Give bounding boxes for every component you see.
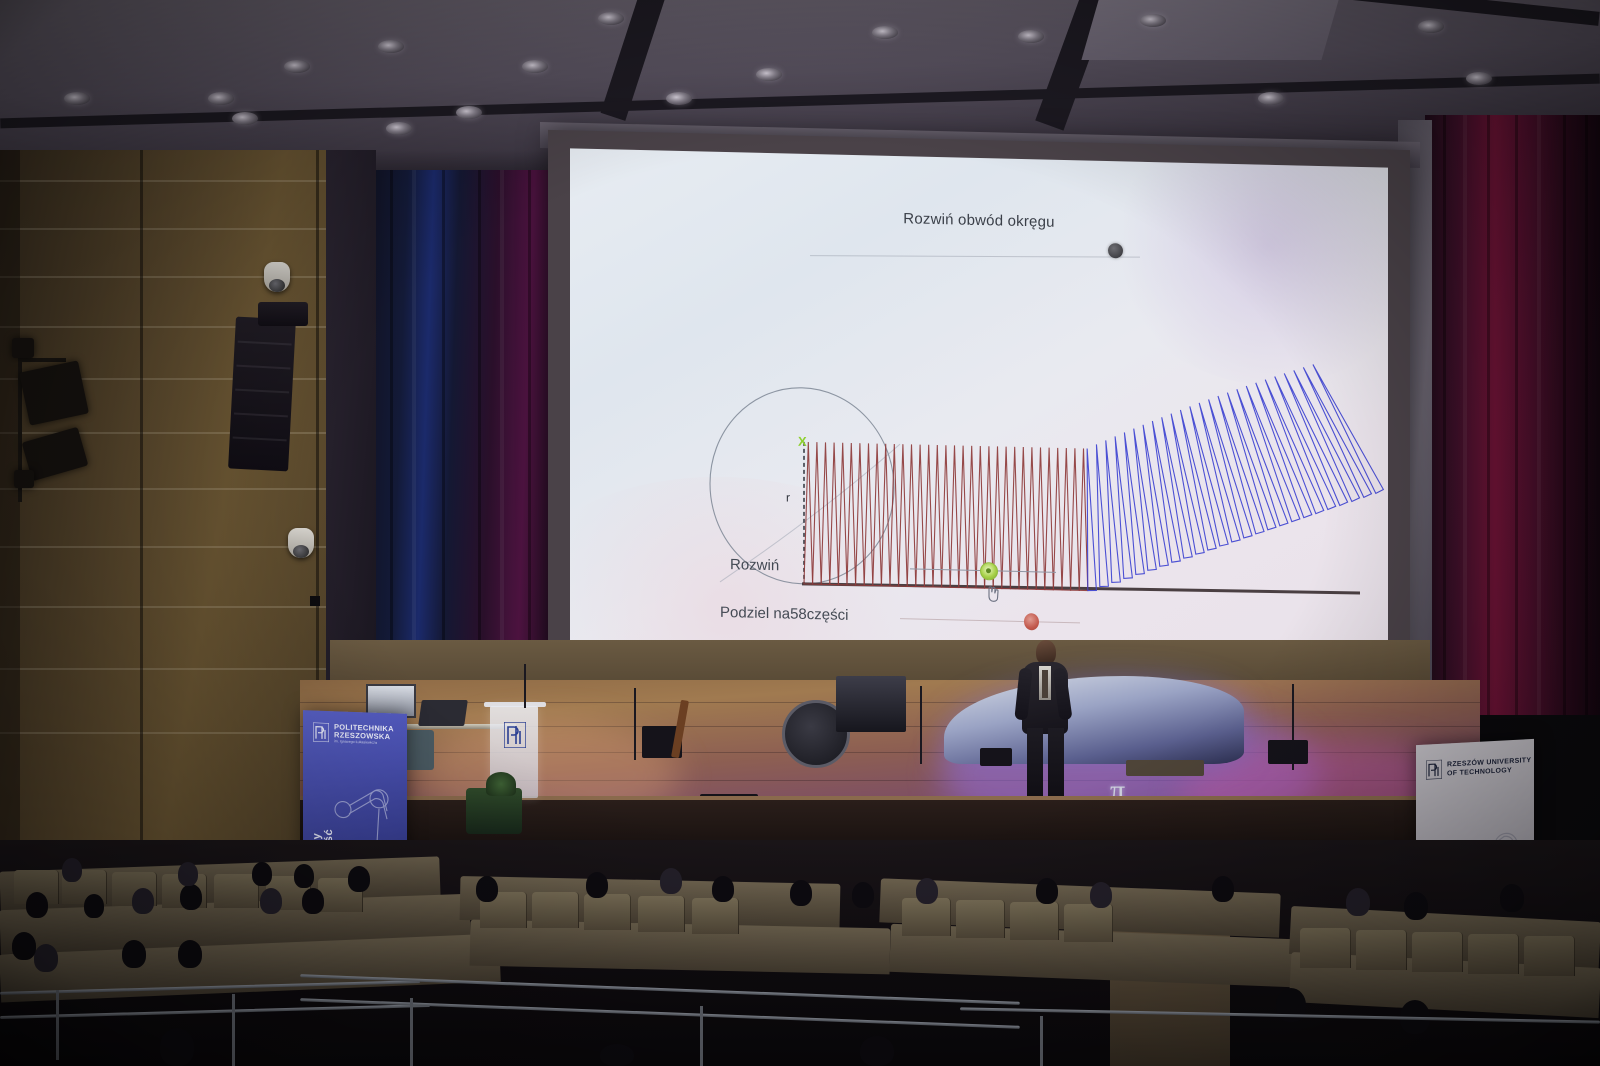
radius-label: r [786, 490, 790, 504]
lectern-top [484, 702, 546, 707]
stage-curtain-right [1425, 115, 1600, 715]
slide-top-handle[interactable] [1108, 243, 1123, 258]
ceiling-downlight [232, 112, 258, 125]
control-row-divide: Podziel na 58 części [720, 604, 848, 624]
audience-head [12, 932, 36, 960]
ceiling-downlight [456, 106, 482, 119]
ptz-dome-camera-icon [264, 262, 290, 292]
baseline [802, 580, 1360, 597]
audience-head [348, 866, 370, 892]
railing-post [232, 994, 235, 1066]
audience-head [62, 858, 82, 882]
audience-head [122, 940, 146, 968]
audience-head [916, 878, 938, 904]
stage-monitor [1268, 740, 1308, 764]
aisle-railing [0, 1004, 430, 1019]
audience-head [790, 880, 812, 906]
divide-value: 58 [790, 606, 807, 623]
lighting-truss [18, 358, 66, 362]
line-array-speaker-icon [228, 317, 296, 472]
divide-label-prefix: Podziel na [720, 604, 790, 623]
seat [638, 896, 685, 932]
ceiling-downlight [666, 92, 692, 105]
vertex-label: X [798, 434, 807, 449]
ceiling-downlight [598, 12, 624, 25]
banner-left-subtitle: im. Ignacego Łukasiewicza [334, 740, 377, 745]
seat [1412, 932, 1463, 972]
seat [1064, 904, 1113, 942]
audience-head [1036, 878, 1058, 904]
audience-head [860, 1036, 894, 1066]
wall-sensor [310, 596, 320, 606]
prz-logo-icon [313, 723, 329, 743]
aisle-railing [300, 998, 1020, 1029]
ceiling-downlight [1018, 30, 1044, 43]
audience-head [34, 944, 58, 972]
ceiling-downlight [1258, 92, 1284, 105]
audience-head [476, 876, 498, 902]
drum-hardware [836, 676, 906, 732]
presenter [1014, 640, 1094, 812]
stage-plant [486, 772, 516, 796]
audience-head [586, 872, 608, 898]
seat [532, 892, 579, 928]
presenter-leg-left [1027, 728, 1043, 806]
audience-head [178, 862, 198, 886]
circle-unroll-figure: r X [570, 328, 1388, 662]
blue-sector-group [1083, 357, 1384, 597]
stage-monitor [980, 748, 1012, 766]
audience-head [1500, 884, 1524, 912]
seat [692, 898, 739, 934]
control-row-unroll: Rozwiń [730, 556, 779, 574]
hand-cursor-icon [984, 582, 1001, 602]
unroll-slider-handle[interactable] [980, 562, 998, 580]
audience-seating [0, 840, 1600, 1066]
left-wall-acoustic-panels [0, 150, 330, 890]
auditorium-photo: Rozwiń obwód okręgu r X Rozwiń [0, 0, 1600, 1066]
railing-post [700, 1006, 703, 1066]
audience-head [178, 940, 202, 968]
seat [1356, 930, 1407, 970]
audience-head [712, 876, 734, 902]
audience-head [1212, 876, 1234, 902]
presenter-tie [1042, 670, 1048, 698]
seat [956, 900, 1005, 938]
ceiling-downlight [756, 68, 782, 81]
railing-post [1040, 1016, 1043, 1066]
projection-screen: Rozwiń obwód okręgu r X Rozwiń [548, 130, 1410, 680]
ceiling-downlight [386, 122, 412, 135]
cable-ramp [1126, 760, 1204, 776]
audience-head [84, 894, 104, 918]
wall-strip-left [326, 150, 376, 710]
lectern-prz-logo-icon [504, 722, 526, 753]
lectern-microphone [524, 664, 526, 708]
audience-head [852, 882, 874, 908]
audience-head [600, 1044, 634, 1066]
seat [1010, 902, 1059, 940]
unroll-label: Rozwiń [730, 556, 779, 574]
divide-label-suffix: części [807, 606, 849, 624]
audience-head [180, 884, 202, 910]
projected-slide: Rozwiń obwód okręgu r X Rozwiń [570, 148, 1388, 662]
seat [584, 894, 631, 930]
laptop [418, 700, 468, 726]
stage-curtain-left [360, 170, 560, 690]
aisle-railing [300, 974, 1020, 1005]
ceiling-downlight [1418, 20, 1444, 33]
ceiling-downlight [378, 40, 404, 53]
audience-head [1090, 882, 1112, 908]
audience-head [132, 888, 154, 914]
banner-right-title-2: OF TECHNOLOGY [1447, 767, 1512, 778]
ceiling-downlight [522, 60, 548, 73]
line-array-speaker-icon [258, 302, 308, 326]
divide-slider-handle[interactable] [1024, 613, 1039, 630]
presenter-leg-right [1048, 728, 1064, 806]
ceiling-downlight [284, 60, 310, 73]
audience-head [302, 888, 324, 914]
stage-spotlight-icon [12, 338, 34, 358]
seat [1524, 936, 1575, 976]
stage-spotlight-icon [14, 470, 34, 488]
ceiling-downlight [872, 26, 898, 39]
slide-top-track [810, 255, 1140, 257]
audience-head [660, 868, 682, 894]
ceiling-downlight [1140, 14, 1166, 27]
ceiling-downlight [208, 92, 234, 105]
audience-head [26, 892, 48, 918]
audience-head [260, 888, 282, 914]
ptz-dome-camera-icon [288, 528, 314, 558]
prz-logo-icon [1426, 760, 1442, 780]
ceiling-downlight [64, 92, 90, 105]
seat [1300, 928, 1351, 968]
audience-head [294, 864, 314, 888]
audience-head [160, 1028, 194, 1066]
audience-head [1346, 888, 1370, 916]
railing-post [410, 998, 413, 1066]
railing-post [56, 990, 59, 1060]
seat [1468, 934, 1519, 974]
audience-head [1404, 892, 1428, 920]
audience-head [252, 862, 272, 886]
microphone-stand [634, 688, 636, 760]
ceiling-downlight [1466, 72, 1492, 85]
microphone-stand [920, 686, 922, 764]
